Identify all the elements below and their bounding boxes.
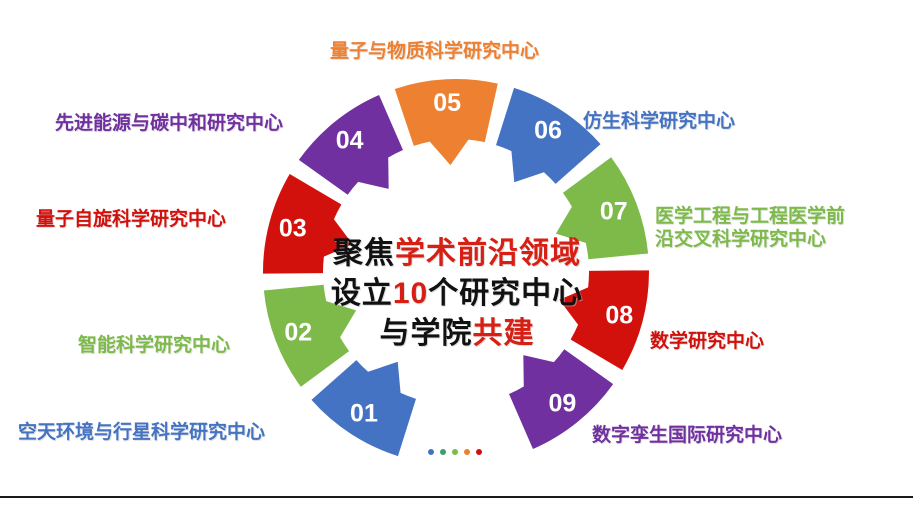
dot-1	[428, 449, 434, 455]
segment-label-09[interactable]: 数字孪生国际研究中心	[592, 424, 782, 447]
segment-number-09: 09	[548, 389, 576, 417]
segment-label-08[interactable]: 数学研究中心	[650, 330, 764, 353]
center-line3-red: 共建	[473, 317, 535, 350]
center-line1-red: 学术前沿领域	[395, 237, 581, 270]
dot-3	[452, 449, 458, 455]
dot-4	[464, 449, 470, 455]
center-line2-red: 10	[393, 277, 428, 310]
center-line2-black-a: 设立	[331, 277, 393, 310]
dot-2	[440, 449, 446, 455]
segment-number-07: 07	[600, 197, 628, 225]
segment-number-05: 05	[433, 89, 461, 117]
segment-label-01[interactable]: 空天环境与行星科学研究中心	[18, 421, 265, 444]
center-line1-black: 聚焦	[333, 237, 395, 270]
segment-label-06[interactable]: 仿生科学研究中心	[583, 110, 735, 133]
slide-canvas: 010203040506070809 聚焦学术前沿领域 设立10个研究中心 与学…	[0, 0, 913, 505]
segment-number-04: 04	[336, 127, 364, 155]
center-message: 聚焦学术前沿领域 设立10个研究中心 与学院共建	[296, 234, 618, 354]
segment-label-04[interactable]: 先进能源与碳中和研究中心	[55, 112, 283, 135]
center-line-2: 设立10个研究中心	[296, 274, 618, 314]
segment-label-05[interactable]: 量子与物质科学研究中心	[330, 40, 539, 63]
center-line-3: 与学院共建	[296, 314, 618, 354]
center-line3-black: 与学院	[380, 317, 473, 350]
center-line-1: 聚焦学术前沿领域	[296, 234, 618, 274]
bottom-divider	[0, 496, 913, 498]
segment-number-06: 06	[534, 116, 562, 144]
segment-label-07[interactable]: 医学工程与工程医学前沿交叉科学研究中心	[655, 205, 845, 251]
dot-5	[476, 449, 482, 455]
segment-number-01: 01	[350, 400, 378, 428]
segment-label-02[interactable]: 智能科学研究中心	[78, 334, 230, 357]
center-line2-black-b: 个研究中心	[428, 277, 583, 310]
segment-label-03[interactable]: 量子自旋科学研究中心	[36, 208, 226, 231]
decorative-dots	[428, 449, 482, 455]
